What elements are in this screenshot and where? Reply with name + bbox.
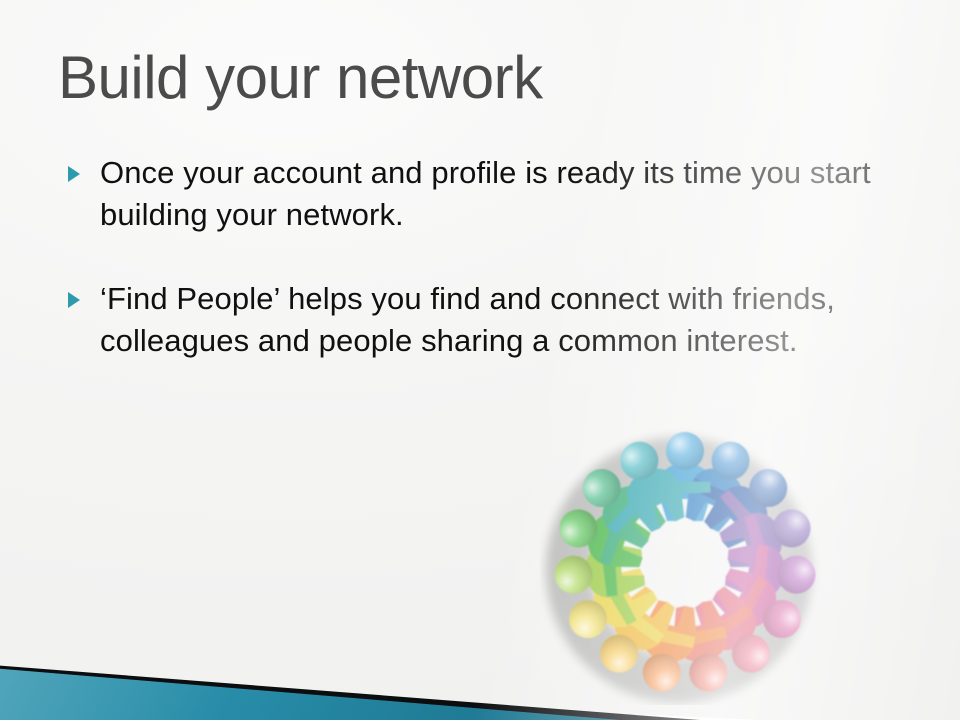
triangle-bullet-icon bbox=[68, 166, 80, 182]
slide-body: Once your account and profile is ready i… bbox=[62, 152, 902, 362]
bullet-item: ‘Find People’ helps you find and connect… bbox=[62, 278, 902, 362]
bullet-item: Once your account and profile is ready i… bbox=[62, 152, 902, 236]
presentation-slide: Build your network Once your account and… bbox=[0, 0, 960, 720]
people-circle-illustration bbox=[540, 415, 830, 705]
triangle-bullet-icon bbox=[68, 292, 80, 308]
slide-title: Build your network bbox=[58, 44, 898, 112]
bullet-text: ‘Find People’ helps you find and connect… bbox=[100, 278, 902, 362]
bullet-text: Once your account and profile is ready i… bbox=[100, 152, 902, 236]
